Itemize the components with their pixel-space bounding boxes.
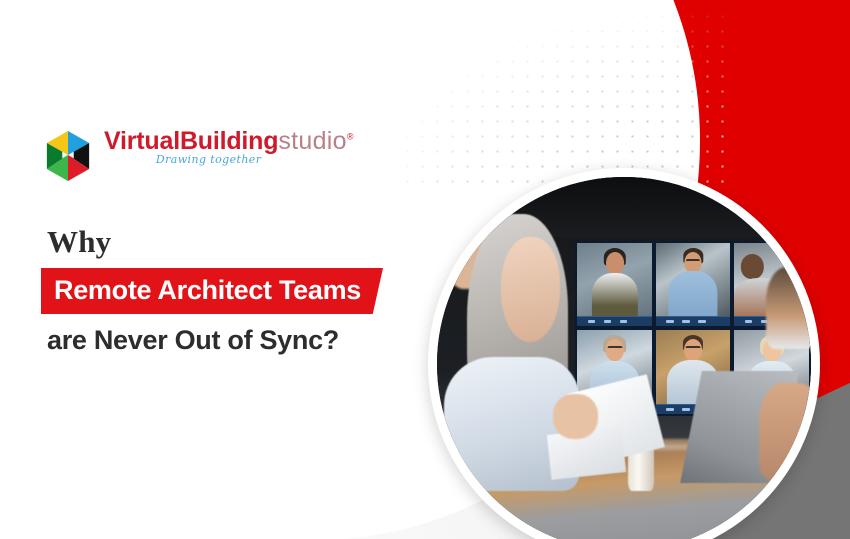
tile-body (592, 273, 638, 320)
hero-photo-circle (428, 168, 820, 539)
headline-block: Why Remote Architect Teams are Never Out… (47, 226, 427, 354)
tile-taskbar (577, 316, 652, 326)
brand-tagline: Drawing together (104, 153, 353, 166)
tile-head (741, 254, 763, 279)
brand-wordmark: VirtualBuildingstudio® (104, 128, 353, 154)
dot-grid-texture (400, 0, 730, 194)
photo-person-right-lower (759, 383, 811, 480)
tile-taskbar (656, 316, 731, 326)
promo-banner: VirtualBuildingstudio® Drawing together … (0, 0, 850, 539)
registered-trademark-icon: ® (347, 132, 353, 142)
photo-hand (553, 394, 598, 439)
brand-logo[interactable]: VirtualBuildingstudio® Drawing together (44, 128, 353, 182)
hexagon-cube-logo-icon (44, 130, 92, 182)
video-tile (656, 243, 731, 327)
tile-head (606, 252, 624, 274)
tile-glasses (607, 346, 622, 353)
brand-logo-text: VirtualBuildingstudio® Drawing together (104, 128, 353, 166)
headline-line-1: Why (47, 226, 427, 257)
tile-body (669, 271, 718, 320)
brand-name-secondary: studio (278, 127, 347, 155)
photo-person-right-upper (766, 267, 811, 349)
hero-photo (437, 177, 811, 539)
brand-name-primary: VirtualBuilding (104, 127, 278, 155)
video-tile (577, 243, 652, 327)
photo-woman-face (501, 237, 561, 342)
tile-glasses (686, 259, 700, 266)
headline-line-3: are Never Out of Sync? (47, 327, 427, 354)
headline-line-2-banner: Remote Architect Teams (41, 268, 383, 314)
tile-glasses (686, 346, 701, 353)
